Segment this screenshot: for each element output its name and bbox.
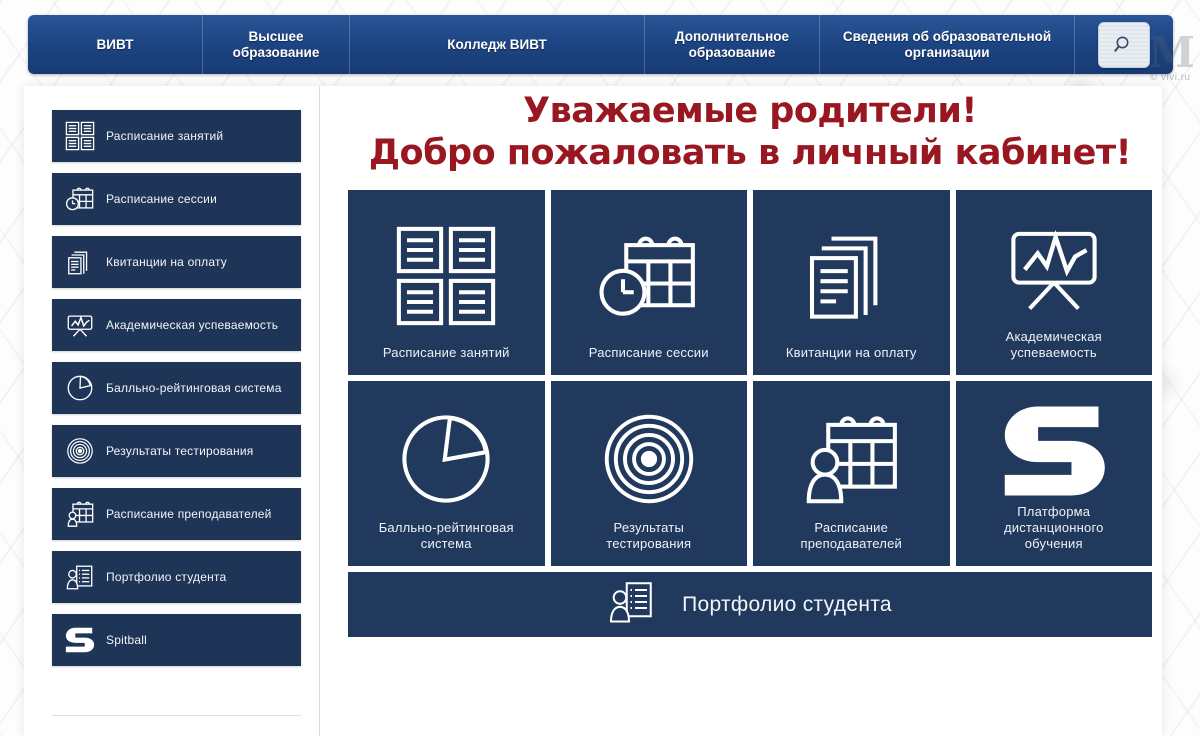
sidebar-item-label: Академическая успеваемость bbox=[100, 318, 278, 332]
nav-tab-label: Колледж ВИВТ bbox=[447, 37, 546, 53]
pie-chart-icon bbox=[60, 368, 100, 408]
tile-student-portfolio[interactable]: Портфолио студента bbox=[348, 572, 1152, 637]
tile-rating-system[interactable]: Балльно-рейтинговаясистема bbox=[348, 381, 545, 566]
target-rings-icon bbox=[60, 431, 100, 471]
sidebar-item-academic-performance[interactable]: Академическая успеваемость bbox=[52, 299, 301, 351]
sidebar-item-rating-system[interactable]: Балльно-рейтинговая система bbox=[52, 362, 301, 414]
spitball-s-icon bbox=[956, 397, 1153, 504]
tile-label: Балльно-рейтинговаясистема bbox=[371, 520, 522, 566]
content-wrapper: Расписание занятий Расписание сессии bbox=[24, 86, 1162, 736]
tile-label: Академическаяуспеваемость bbox=[998, 329, 1110, 375]
target-rings-icon bbox=[551, 397, 748, 520]
page-headline: Уважаемые родители! Добро пожаловать в л… bbox=[348, 90, 1152, 174]
sidebar-menu: Расписание занятий Расписание сессии bbox=[24, 86, 320, 736]
sidebar-item-teacher-schedule[interactable]: Расписание преподавателей bbox=[52, 488, 301, 540]
documents-stack-icon bbox=[753, 206, 950, 345]
nav-tab-label: Дополнительноеобразование bbox=[675, 29, 789, 61]
tile-label: Результатытестирования bbox=[598, 520, 699, 566]
top-navigation-bar: ВИВТ Высшееобразование Колледж ВИВТ Допо… bbox=[28, 15, 1173, 74]
spitball-s-icon bbox=[60, 620, 100, 660]
sidebar-item-label: Расписание занятий bbox=[100, 129, 223, 143]
person-checklist-icon bbox=[608, 578, 656, 631]
pie-chart-icon bbox=[348, 397, 545, 520]
tile-teacher-schedule[interactable]: Расписаниепреподавателей bbox=[753, 381, 950, 566]
tile-class-schedule[interactable]: Расписание занятий bbox=[348, 190, 545, 375]
sidebar-item-label: Spitball bbox=[100, 633, 147, 647]
sidebar-item-label: Квитанции на оплату bbox=[100, 255, 227, 269]
nav-tab-vivt[interactable]: ВИВТ bbox=[28, 15, 203, 74]
main-content: Уважаемые родители! Добро пожаловать в л… bbox=[320, 86, 1162, 736]
sidebar-item-test-results[interactable]: Результаты тестирования bbox=[52, 425, 301, 477]
nav-tab-org-info[interactable]: Сведения об образовательнойорганизации bbox=[820, 15, 1075, 74]
sidebar-item-spitball[interactable]: Spitball bbox=[52, 614, 301, 666]
tile-session-schedule[interactable]: Расписание сессии bbox=[551, 190, 748, 375]
nav-tab-label: ВИВТ bbox=[97, 37, 134, 53]
sidebar-item-session-schedule[interactable]: Расписание сессии bbox=[52, 173, 301, 225]
sidebar-item-label: Расписание преподавателей bbox=[100, 507, 272, 521]
calendar-clock-icon bbox=[60, 179, 100, 219]
tile-distance-learning-platform[interactable]: Платформадистанционногообучения bbox=[956, 381, 1153, 566]
calendar-person-icon bbox=[60, 494, 100, 534]
tile-label: Платформадистанционногообучения bbox=[996, 504, 1112, 566]
documents-stack-icon bbox=[60, 242, 100, 282]
nav-tab-additional-education[interactable]: Дополнительноеобразование bbox=[645, 15, 820, 74]
calendar-clock-icon bbox=[551, 206, 748, 345]
service-tile-grid: Расписание занятий Расписание сессии bbox=[348, 190, 1152, 566]
tile-label: Расписаниепреподавателей bbox=[793, 520, 911, 566]
tile-label: Квитанции на оплату bbox=[778, 345, 925, 375]
nav-tab-higher-education[interactable]: Высшееобразование bbox=[203, 15, 350, 74]
sidebar-item-label: Портфолио студента bbox=[100, 570, 226, 584]
sidebar-item-label: Балльно-рейтинговая система bbox=[100, 381, 282, 395]
sidebar-item-label: Расписание сессии bbox=[100, 192, 217, 206]
sidebar-item-class-schedule[interactable]: Расписание занятий bbox=[52, 110, 301, 162]
wide-tile-label: Портфолио студента bbox=[682, 593, 892, 617]
search-icon[interactable] bbox=[1098, 22, 1150, 68]
nav-tab-label: Высшееобразование bbox=[233, 29, 320, 61]
tile-payment-receipts[interactable]: Квитанции на оплату bbox=[753, 190, 950, 375]
tile-label: Расписание занятий bbox=[375, 345, 518, 375]
sidebar-item-label: Результаты тестирования bbox=[100, 444, 253, 458]
nav-tab-college[interactable]: Колледж ВИВТ bbox=[350, 15, 645, 74]
sidebar-item-payment-receipts[interactable]: Квитанции на оплату bbox=[52, 236, 301, 288]
chart-board-icon bbox=[60, 305, 100, 345]
headline-line-1: Уважаемые родители! bbox=[348, 90, 1152, 132]
tile-label: Расписание сессии bbox=[581, 345, 717, 375]
calendar-person-icon bbox=[753, 397, 950, 520]
tile-academic-performance[interactable]: Академическаяуспеваемость bbox=[956, 190, 1153, 375]
grid-lists-icon bbox=[60, 116, 100, 156]
chart-board-icon bbox=[956, 206, 1153, 329]
headline-line-2: Добро пожаловать в личный кабинет! bbox=[348, 132, 1152, 174]
grid-lists-icon bbox=[348, 206, 545, 345]
sidebar-item-student-portfolio[interactable]: Портфолио студента bbox=[52, 551, 301, 603]
nav-tab-label: Сведения об образовательнойорганизации bbox=[843, 29, 1051, 61]
search-button[interactable] bbox=[1075, 15, 1173, 74]
person-checklist-icon bbox=[60, 557, 100, 597]
tile-test-results[interactable]: Результатытестирования bbox=[551, 381, 748, 566]
